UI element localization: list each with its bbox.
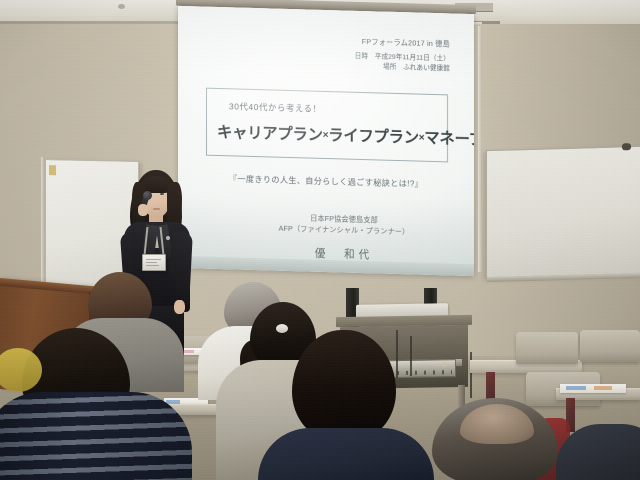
slide-title-part3: マネープラン [424,129,474,149]
badge-line-3 [146,265,159,266]
slide-title-part1: キャリアプラン [217,123,323,143]
chair-right-1 [516,332,578,364]
name-badge [142,254,166,271]
photo-scene: FPフォーラム2017 in 徳島 日時 平成29年11月11日（土） 場所 ふ… [0,0,640,480]
slide-kicker: 30代40代から考える！ [229,100,437,118]
slide-credit-block: 日本FP協会徳島支部 AFP（ファイナンシャル・プランナー） 優 和代 [196,209,456,264]
microphone-head-icon [143,191,152,200]
projection-screen-assembly: FPフォーラム2017 in 徳島 日時 平成29年11月11日（土） 場所 ふ… [178,1,474,277]
presenter-eye-right [160,193,164,195]
slide-header: FPフォーラム2017 in 徳島 日時 平成29年11月11日（土） 場所 ふ… [196,32,456,74]
presenter-lapel-pin [166,236,170,240]
badge-line-2 [146,262,157,263]
presenter-hand-left [138,204,148,216]
handout-accent-orange [594,386,612,390]
slide-event-title: FPフォーラム2017 in 徳島 [196,32,450,50]
slide-content: FPフォーラム2017 in 徳島 日時 平成29年11月11日（土） 場所 ふ… [178,6,474,276]
whiteboard-right [486,146,640,278]
presenter-arm-right [168,231,193,304]
presenter-hand-right [174,300,185,314]
whiteboard-magnet [49,165,56,175]
handout-accent-blue [566,386,586,390]
projection-screen: FPフォーラム2017 in 徳島 日時 平成29年11月11日（土） 場所 ふ… [178,6,474,276]
slide-main-title: キャリアプラン×ライフプラン×マネープラン [217,119,437,147]
presenter-mouth [153,208,160,210]
slide-title-part2: ライフプラン [328,127,419,147]
hair-tie [276,324,288,333]
audience-body-5 [258,428,434,480]
badge-line-1 [146,259,161,260]
slide-subtitle: 『一度きりの人生、自分らしく過ごす秘訣とは!?』 [196,171,456,190]
slide-title-box: 30代40代から考える！ キャリアプラン×ライフプラン×マネープラン [206,87,448,162]
av-cable-1 [396,330,398,378]
ceiling-fixture [118,4,125,9]
audience-head-5 [292,330,396,440]
whiteboard-knob [622,143,631,150]
av-cable-2 [410,336,412,376]
chair-right-2 [580,330,640,362]
audience-body-1-shading [0,392,192,480]
wall-conduit [478,22,482,272]
av-cable-3 [470,352,472,398]
